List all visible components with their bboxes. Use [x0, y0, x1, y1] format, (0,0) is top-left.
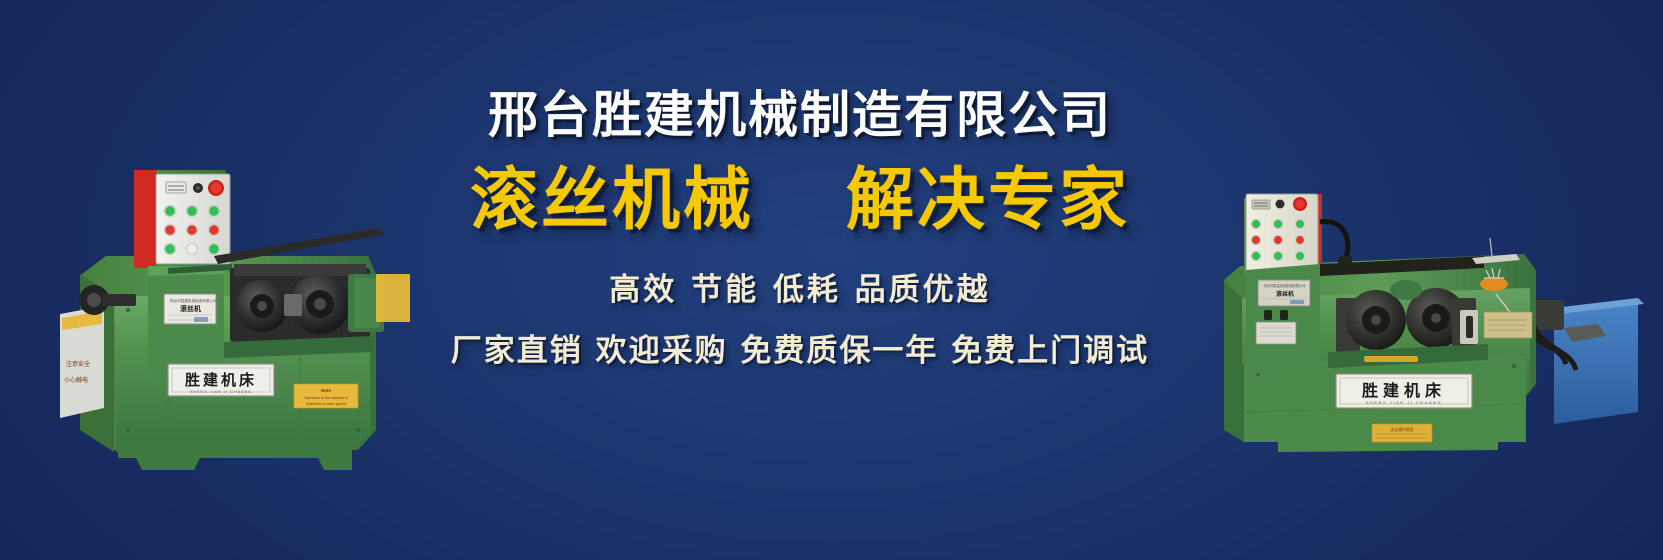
headstock-right: 邢台市胜建机械制造有限公司 滚丝机: [1246, 264, 1320, 374]
cable-right: [1320, 222, 1348, 258]
svg-text:prohibited to wear gloves: prohibited to wear gloves: [306, 402, 346, 406]
cabinet-warning-text: 注意安全: [66, 360, 90, 368]
control-tower-left: [134, 170, 230, 268]
feature-line: 高效 节能 低耗 品质优越: [400, 264, 1200, 309]
company-name: 邢台胜建机械制造有限公司: [400, 88, 1200, 143]
nameplate-right-pinyin: SHENG JIAN JI CHUANG: [1366, 401, 1442, 405]
nameplate-left-pinyin: SHENG JIAN JI CHUANG: [190, 390, 252, 394]
banner-text-block: 邢台胜建机械制造有限公司 滚丝机械 解决专家 高效 节能 低耗 品质优越 厂家直…: [400, 88, 1200, 370]
button-grid: [165, 206, 220, 255]
cabinet-warning-text-2: 小心触电: [64, 376, 88, 384]
slogan-left: 滚丝机械: [470, 165, 754, 236]
electrical-cabinet-left: 注意安全 小心触电: [60, 306, 104, 418]
digital-display: [166, 182, 186, 193]
spec-plate-company: 邢台市胜建机械制造有限公司: [170, 298, 217, 303]
nameplate-right-text: 胜建机床: [1362, 381, 1446, 400]
nameplate-right: 胜建机床 SHENG JIAN JI CHUANG: [1336, 374, 1472, 408]
spec-plate-title-right: 滚丝机: [1276, 290, 1294, 298]
warning-label-right-text: 安全操作规程: [1391, 427, 1414, 432]
service-line: 厂家直销 欢迎采购 免费质保一年 免费上门调试: [400, 325, 1200, 370]
button-grid-right: [1251, 219, 1304, 260]
svg-text:邢台市胜建机械制造有限公司: 邢台市胜建机械制造有限公司: [1264, 283, 1305, 288]
warning-label-title: Note: [321, 388, 332, 393]
warning-label-right: 安全操作规程: [1372, 424, 1432, 442]
nameplate-left: 胜建机床 SHENG JIAN JI CHUANG: [168, 364, 274, 396]
svg-text:Operation of the machine is: Operation of the machine is: [304, 396, 348, 400]
slogan-right: 解决专家: [846, 165, 1130, 236]
warning-label-left: Note Operation of the machine is prohibi…: [294, 384, 358, 408]
spec-plate-title: 滚丝机: [180, 304, 201, 313]
nameplate-left-text: 胜建机床: [185, 371, 257, 389]
control-tower-right: [1244, 194, 1322, 276]
digital-display-right: [1252, 200, 1270, 209]
promo-banner: 注意安全 小心触电: [0, 0, 1663, 560]
machine-image-right: 邢台市胜建机械制造有限公司 滚丝机: [1168, 112, 1663, 472]
machine-image-left: 注意安全 小心触电: [18, 78, 418, 488]
selector-knob-right: [1276, 200, 1285, 209]
slogan-row: 滚丝机械 解决专家: [400, 165, 1200, 236]
